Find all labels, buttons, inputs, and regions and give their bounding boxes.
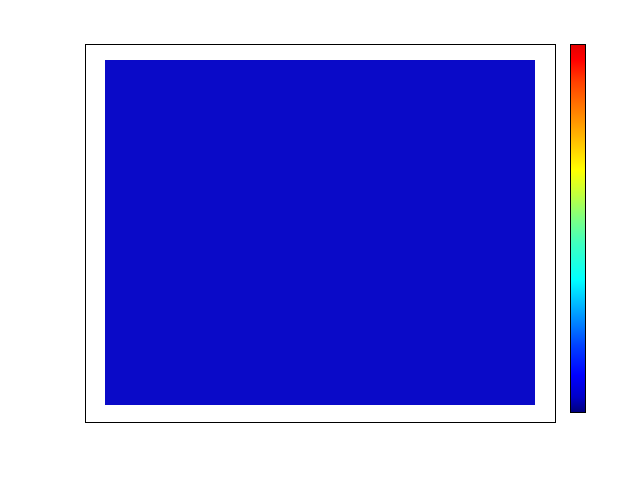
colorbar-gradient [570,44,586,413]
heatmap-image [105,60,535,405]
colorbar [570,44,586,413]
figure-canvas [0,0,640,480]
heatmap-canvas [105,60,535,405]
